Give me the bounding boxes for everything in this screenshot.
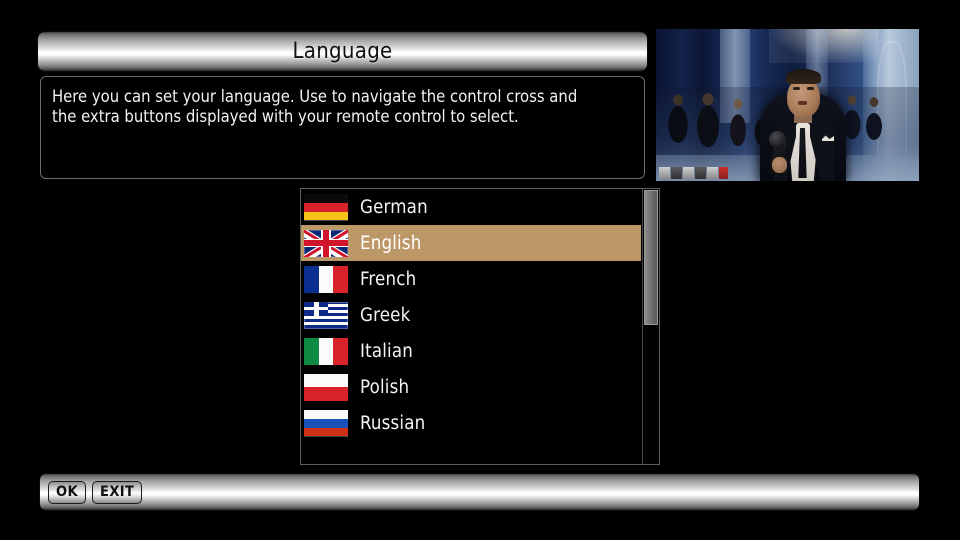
list-item[interactable]: French [301, 261, 641, 297]
flag-it-icon [304, 338, 348, 365]
flag-gb-icon [304, 230, 348, 257]
list-item-label: Greek [360, 305, 410, 326]
list-scrollbar-track[interactable] [642, 189, 659, 464]
flag-de-icon [304, 194, 348, 221]
video-reporter-mouth [798, 101, 807, 105]
flag-gr-icon [304, 302, 348, 329]
bottom-button-bar: OK EXIT [40, 474, 919, 510]
list-item-label: Polish [360, 377, 409, 398]
video-microphone-head [769, 131, 786, 148]
window-title-bar: Language [38, 32, 647, 71]
page-title: Language [292, 39, 392, 64]
station-bug-segment [683, 167, 694, 179]
flag-ru-icon [304, 410, 348, 437]
language-list: German English French Greek [301, 189, 641, 441]
help-text-panel: Here you can set your language. Use to n… [40, 76, 645, 179]
list-item-label: Italian [360, 341, 413, 362]
video-station-bug [659, 167, 729, 179]
list-scrollbar-thumb[interactable] [644, 190, 658, 325]
list-item-label: English [360, 233, 422, 254]
help-text-line-1: Here you can set your language. Use to n… [52, 87, 632, 107]
list-item[interactable]: English [301, 225, 641, 261]
station-bug-segment [707, 167, 718, 179]
video-reporter-hair [786, 69, 821, 84]
list-item[interactable]: German [301, 189, 641, 225]
tv-settings-screen: Language Here you can set your language.… [0, 0, 960, 540]
video-reporter-eye-right [807, 87, 814, 90]
list-item-label: Russian [360, 413, 425, 434]
exit-button[interactable]: EXIT [92, 481, 142, 504]
list-item[interactable]: Italian [301, 333, 641, 369]
list-item-label: French [360, 269, 416, 290]
list-item[interactable]: Russian [301, 405, 641, 441]
video-reporter-eye-left [793, 87, 800, 90]
station-bug-segment [671, 167, 682, 179]
language-list-panel: German English French Greek [300, 188, 660, 465]
ok-button[interactable]: OK [48, 481, 86, 504]
video-preview[interactable] [656, 29, 919, 181]
video-reporter-hand [772, 157, 787, 173]
help-text-line-2: the extra buttons displayed with your re… [52, 107, 632, 127]
station-bug-segment [659, 167, 670, 179]
flag-fr-icon [304, 266, 348, 293]
list-item[interactable]: Greek [301, 297, 641, 333]
flag-pl-icon [304, 374, 348, 401]
station-bug-segment-accent [719, 167, 728, 179]
station-bug-segment [695, 167, 706, 179]
list-item-label: German [360, 197, 428, 218]
list-item[interactable]: Polish [301, 369, 641, 405]
